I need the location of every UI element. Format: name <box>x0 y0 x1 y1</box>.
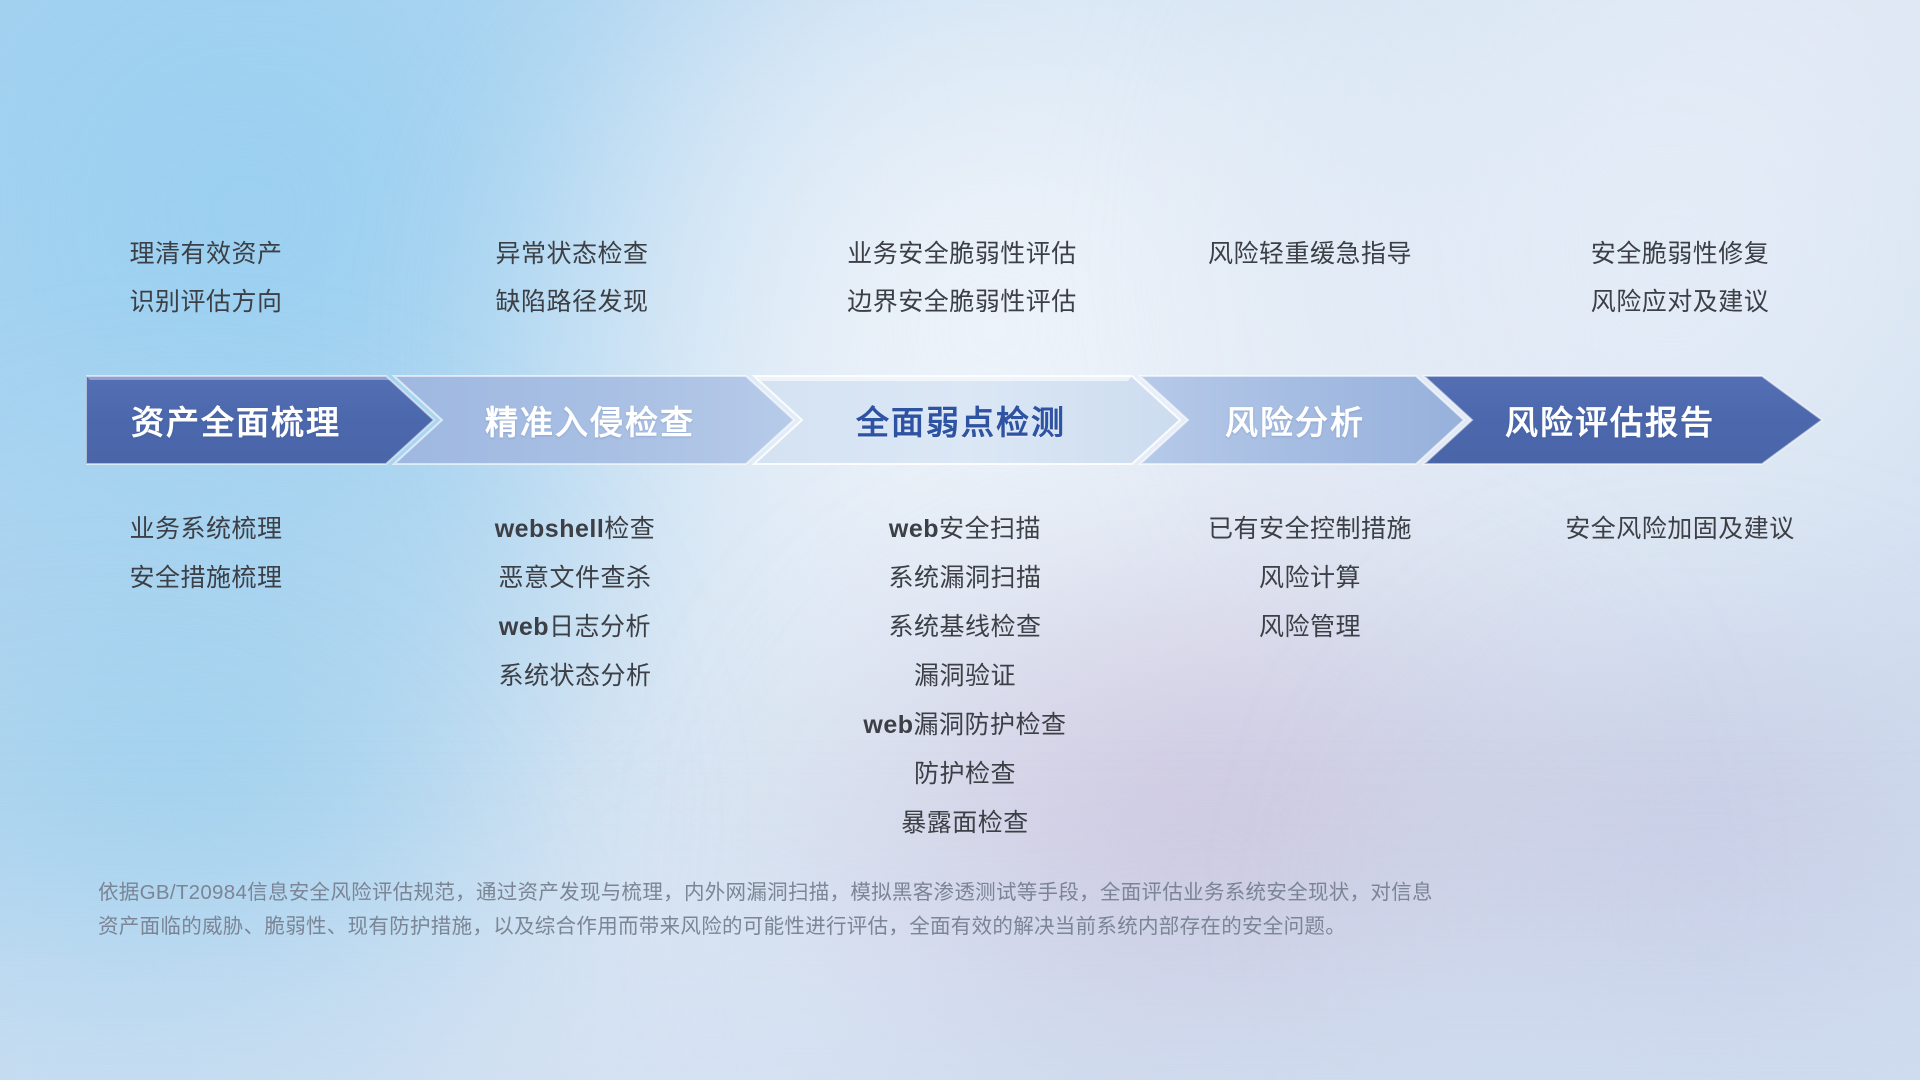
process-diagram: 理清有效资产 识别评估方向 异常状态检查 缺陷路径发现 业务安全脆弱性评估 边界… <box>0 0 1920 1080</box>
bottom-item: 系统漏洞扫描 <box>770 554 1160 603</box>
chevron-label-stage-2[interactable]: 精准入侵检查 <box>420 372 760 468</box>
bottom-items-stage-1: 业务系统梳理 安全措施梳理 <box>46 505 366 603</box>
bottom-items-stage-5: 安全风险加固及建议 <box>1490 505 1870 554</box>
bottom-item: 已有安全控制措施 <box>1130 505 1490 554</box>
bottom-item: web漏洞防护检查 <box>770 701 1160 750</box>
bottom-item: 安全风险加固及建议 <box>1490 505 1870 554</box>
bottom-item: 安全措施梳理 <box>46 554 366 603</box>
bottom-item: web日志分析 <box>410 603 740 652</box>
bottom-item: 恶意文件查杀 <box>410 554 740 603</box>
bottom-item: 防护检查 <box>770 750 1160 799</box>
top-items-stage-4: 风险轻重缓急指导 <box>1130 230 1490 278</box>
top-item: 安全脆弱性修复 <box>1500 230 1860 278</box>
bottom-item: 系统基线检查 <box>770 603 1160 652</box>
bottom-item-prefix: web <box>863 711 913 739</box>
chevron-label-stage-5[interactable]: 风险评估报告 <box>1448 372 1772 468</box>
chevron-label-stage-3[interactable]: 全面弱点检测 <box>780 372 1142 468</box>
top-item: 风险轻重缓急指导 <box>1130 230 1490 278</box>
bottom-items-stage-2: webshell检查 恶意文件查杀 web日志分析 系统状态分析 <box>410 505 740 701</box>
footer-description: 依据GB/T20984信息安全风险评估规范，通过资产发现与梳理，内外网漏洞扫描，… <box>98 876 1598 944</box>
bottom-item: 暴露面检查 <box>770 799 1160 848</box>
bottom-item-prefix: web <box>499 613 549 641</box>
chevron-label-stage-1[interactable]: 资产全面梳理 <box>86 372 386 468</box>
bottom-item-suffix: 漏洞防护检查 <box>914 711 1067 739</box>
bottom-items-stage-3: web安全扫描 系统漏洞扫描 系统基线检查 漏洞验证 web漏洞防护检查 防护检… <box>770 505 1160 848</box>
chevron-label-stage-4[interactable]: 风险分析 <box>1164 372 1426 468</box>
bottom-item: 业务系统梳理 <box>46 505 366 554</box>
bottom-item-suffix: 检查 <box>604 515 655 543</box>
top-item: 业务安全脆弱性评估 <box>772 230 1152 278</box>
top-item: 缺陷路径发现 <box>412 278 732 326</box>
bottom-item: 系统状态分析 <box>410 652 740 701</box>
top-items-stage-1: 理清有效资产 识别评估方向 <box>46 230 366 326</box>
bottom-items-stage-4: 已有安全控制措施 风险计算 风险管理 <box>1130 505 1490 652</box>
bottom-item: web安全扫描 <box>770 505 1160 554</box>
bottom-item-suffix: 日志分析 <box>549 613 651 641</box>
bottom-item-prefix: web <box>889 515 939 543</box>
top-item: 风险应对及建议 <box>1500 278 1860 326</box>
top-item: 边界安全脆弱性评估 <box>772 278 1152 326</box>
bottom-item: 漏洞验证 <box>770 652 1160 701</box>
bottom-item: 风险管理 <box>1130 603 1490 652</box>
bottom-item-prefix: webshell <box>495 515 605 543</box>
bottom-item: 风险计算 <box>1130 554 1490 603</box>
top-item: 理清有效资产 <box>46 230 366 278</box>
bottom-item-suffix: 安全扫描 <box>939 515 1041 543</box>
top-item: 识别评估方向 <box>46 278 366 326</box>
top-items-stage-5: 安全脆弱性修复 风险应对及建议 <box>1500 230 1860 326</box>
top-items-stage-2: 异常状态检查 缺陷路径发现 <box>412 230 732 326</box>
top-item: 异常状态检查 <box>412 230 732 278</box>
top-items-stage-3: 业务安全脆弱性评估 边界安全脆弱性评估 <box>772 230 1152 326</box>
bottom-item: webshell检查 <box>410 505 740 554</box>
footer-line-1: 依据GB/T20984信息安全风险评估规范，通过资产发现与梳理，内外网漏洞扫描，… <box>98 876 1598 910</box>
footer-line-2: 资产面临的威胁、脆弱性、现有防护措施，以及综合作用而带来风险的可能性进行评估，全… <box>98 910 1598 944</box>
